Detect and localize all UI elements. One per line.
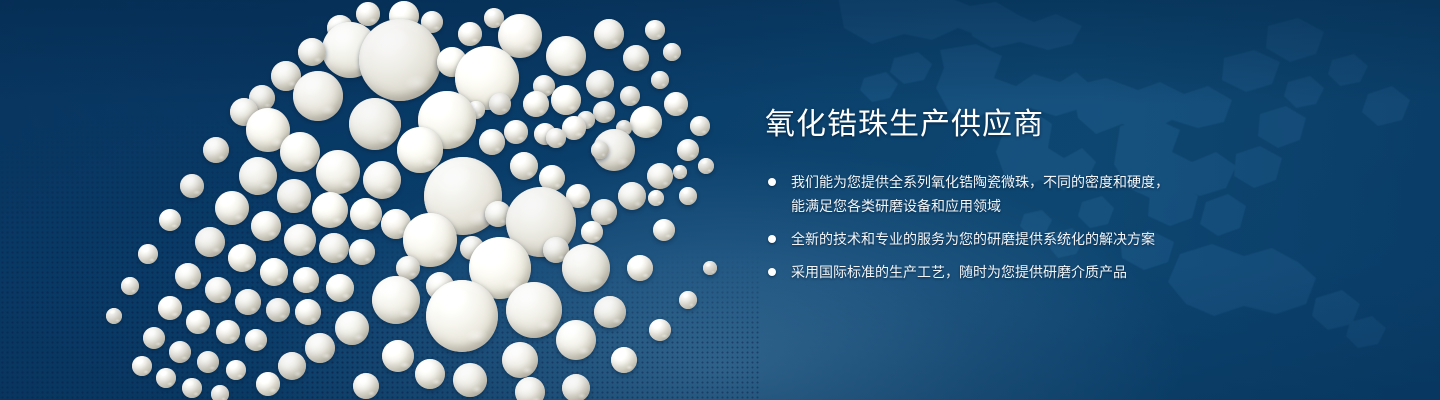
ceramic-bead xyxy=(132,356,152,376)
ceramic-bead xyxy=(690,116,710,136)
ceramic-bead xyxy=(546,128,566,148)
ceramic-bead xyxy=(510,152,538,180)
ceramic-bead xyxy=(594,296,626,328)
bullet-item-3: 采用国际标准的生产工艺，随时为您提供研磨介质产品 xyxy=(765,260,1245,284)
ceramic-bead xyxy=(245,329,267,351)
ceramic-bead xyxy=(627,255,653,281)
ceramic-bead xyxy=(703,261,717,275)
ceramic-bead xyxy=(316,150,360,194)
ceramic-bead xyxy=(623,45,649,71)
ceramic-bead xyxy=(277,179,311,213)
ceramic-bead xyxy=(645,20,665,40)
ceramic-bead xyxy=(349,239,375,265)
bullet-item-1: 我们能为您提供全系列氧化锆陶瓷微珠，不同的密度和硬度， 能满足您各类研磨设备和应… xyxy=(765,170,1245,218)
banner-copy: 氧化锆珠生产供应商 我们能为您提供全系列氧化锆陶瓷微珠，不同的密度和硬度， 能满… xyxy=(765,104,1245,284)
ceramic-bead xyxy=(298,38,326,66)
bullet-item-3-line-1: 采用国际标准的生产工艺，随时为您提供研磨介质产品 xyxy=(791,260,1245,284)
ceramic-bead xyxy=(523,91,549,117)
ceramic-bead xyxy=(326,274,354,302)
ceramic-bead xyxy=(426,280,498,352)
ceramic-bead xyxy=(203,137,229,163)
ceramic-bead xyxy=(215,191,249,225)
bullet-dot-icon xyxy=(768,235,776,243)
ceramic-bead xyxy=(106,308,122,324)
ceramic-bead xyxy=(256,372,280,396)
ceramic-bead xyxy=(502,342,538,378)
ceramic-bead xyxy=(156,368,176,388)
ceramic-bead xyxy=(594,19,624,49)
ceramic-bead xyxy=(363,161,401,199)
ceramic-bead xyxy=(205,277,231,303)
bullet-dot-icon xyxy=(768,178,776,186)
ceramic-bead xyxy=(335,311,369,345)
ceramic-bead xyxy=(630,106,662,138)
ceramic-bead xyxy=(186,310,210,334)
ceramic-bead xyxy=(506,282,562,338)
ceramic-bead xyxy=(350,198,382,230)
ceramic-bead xyxy=(515,377,545,400)
ceramic-bead xyxy=(591,141,609,159)
banner-bullet-list: 我们能为您提供全系列氧化锆陶瓷微珠，不同的密度和硬度， 能满足您各类研磨设备和应… xyxy=(765,170,1245,284)
ceramic-bead xyxy=(228,244,256,272)
ceramic-bead xyxy=(620,86,640,106)
ceramic-bead xyxy=(305,333,335,363)
ceramic-bead xyxy=(556,320,596,360)
ceramic-bead xyxy=(458,22,482,46)
ceramic-bead xyxy=(280,132,320,172)
ceramic-bead xyxy=(319,233,349,263)
ceramic-bead xyxy=(143,327,165,349)
ceramic-bead xyxy=(673,165,687,179)
ceramic-bead xyxy=(647,163,673,189)
ceramic-bead xyxy=(312,192,348,228)
ceramic-bead xyxy=(664,92,688,116)
ceramic-bead xyxy=(284,224,316,256)
ceramic-bead xyxy=(649,319,671,341)
ceramic-bead xyxy=(239,157,277,195)
hero-banner: 氧化锆珠生产供应商 我们能为您提供全系列氧化锆陶瓷微珠，不同的密度和硬度， 能满… xyxy=(0,0,1440,400)
ceramic-bead xyxy=(197,351,219,373)
ceramic-bead xyxy=(653,219,675,241)
bullet-item-2-line-1: 全新的技术和专业的服务为您的研磨提供系统化的解决方案 xyxy=(791,227,1245,251)
ceramic-bead xyxy=(260,258,288,286)
ceramic-bead xyxy=(581,221,603,243)
ceramic-bead xyxy=(551,85,581,115)
ceramic-bead xyxy=(158,296,182,320)
ceramic-bead xyxy=(121,277,139,295)
ceramic-bead xyxy=(382,340,414,372)
ceramic-bead xyxy=(216,320,240,344)
ceramic-bead xyxy=(479,129,505,155)
ceramic-bead xyxy=(679,187,697,205)
banner-headline: 氧化锆珠生产供应商 xyxy=(765,104,1245,146)
ceramic-bead xyxy=(546,36,586,76)
ceramic-bead xyxy=(663,43,681,61)
ceramic-bead xyxy=(349,98,401,150)
bullet-item-2: 全新的技术和专业的服务为您的研磨提供系统化的解决方案 xyxy=(765,227,1245,251)
ceramic-bead xyxy=(677,139,699,161)
ceramic-bead xyxy=(295,299,321,325)
ceramic-bead xyxy=(266,298,290,322)
ceramic-bead xyxy=(235,289,261,315)
ceramic-bead xyxy=(251,211,281,241)
ceramic-bead xyxy=(618,182,646,210)
ceramic-bead xyxy=(453,363,487,397)
ceramic-bead xyxy=(698,158,714,174)
ceramic-bead xyxy=(359,19,441,101)
ceramic-bead xyxy=(651,71,669,89)
ceramic-bead xyxy=(180,174,204,198)
ceramic-bead xyxy=(293,71,343,121)
ceramic-bead xyxy=(504,120,528,144)
ceramic-bead xyxy=(211,385,229,400)
bullet-item-1-line-1: 我们能为您提供全系列氧化锆陶瓷微珠，不同的密度和硬度， xyxy=(791,170,1245,194)
ceramic-bead xyxy=(562,244,610,292)
ceramic-bead xyxy=(562,374,590,400)
ceramic-bead xyxy=(586,70,614,98)
ceramic-bead xyxy=(679,291,697,309)
ceramic-bead xyxy=(356,2,380,26)
ceramic-bead xyxy=(593,101,615,123)
ceramic-bead xyxy=(169,341,191,363)
ceramic-bead xyxy=(372,276,420,324)
ceramic-bead xyxy=(278,352,306,380)
ceramic-bead xyxy=(611,347,637,373)
ceramic-bead xyxy=(353,373,379,399)
ceramic-bead xyxy=(182,378,202,398)
ceramic-bead xyxy=(175,263,201,289)
bullet-item-1-line-2: 能满足您各类研磨设备和应用领域 xyxy=(791,194,1245,218)
ceramic-bead xyxy=(489,93,511,115)
ceramic-bead xyxy=(138,244,158,264)
ceramic-bead xyxy=(648,190,664,206)
ceramic-bead xyxy=(159,209,181,231)
ceramic-bead xyxy=(226,360,246,380)
bullet-dot-icon xyxy=(768,268,776,276)
ceramic-bead xyxy=(195,227,225,257)
ceramic-bead xyxy=(415,359,445,389)
ceramic-bead xyxy=(293,267,319,293)
